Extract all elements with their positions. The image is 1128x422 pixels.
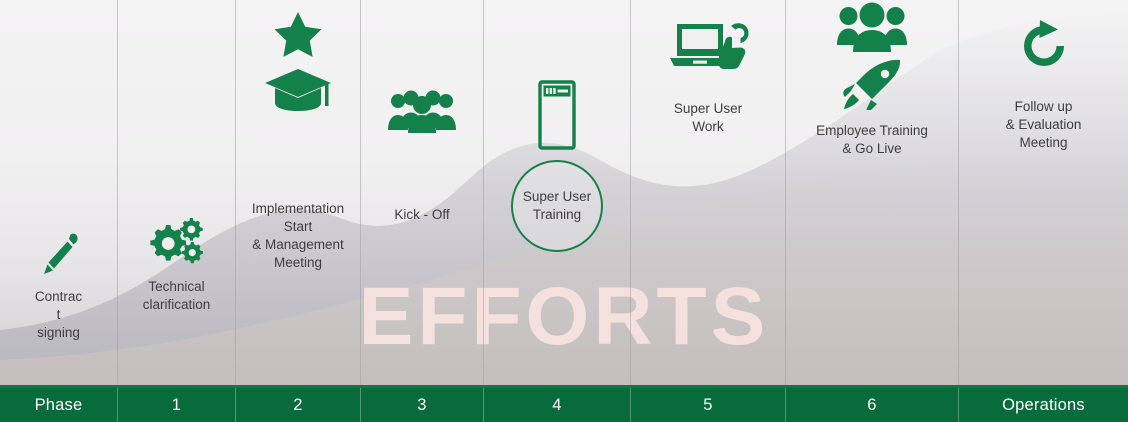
rocket-icon: [840, 58, 904, 110]
phase-caption: Technical clarification: [143, 278, 211, 314]
tablet-icon: [537, 80, 577, 150]
phase-column-contract-signing[interactable]: Contrac t signing: [0, 0, 117, 388]
phase-icons: [837, 0, 907, 110]
phase-cell-5[interactable]: 5: [630, 388, 785, 422]
phase-column-implementation-start[interactable]: Implementation Start & Management Meetin…: [235, 0, 360, 388]
phase-icons: [665, 18, 751, 72]
phase-column-super-user-training[interactable]: Super User Training: [483, 0, 630, 388]
refresh-arrow-icon: [1016, 18, 1072, 74]
implementation-roadmap: EFFORTS Contrac t signing: [0, 0, 1128, 422]
phase-column-kick-off[interactable]: Kick - Off: [360, 0, 483, 388]
phase-cell-3[interactable]: 3: [360, 388, 483, 422]
super-user-training-badge: Super User Training: [511, 160, 603, 252]
phase-cell-1[interactable]: 1: [117, 388, 235, 422]
laptop-click-icon: [665, 18, 751, 72]
people-group-icon: [387, 88, 457, 134]
phase-caption: Contrac t signing: [23, 288, 95, 342]
phase-caption: Super User Training: [523, 188, 591, 223]
phase-icons: [146, 214, 208, 268]
graduation-cap-icon: [263, 66, 333, 112]
phase-caption: Kick - Off: [394, 206, 449, 224]
phase-cell-operations[interactable]: Operations: [958, 388, 1128, 422]
star-icon: [272, 10, 324, 60]
phase-caption: Employee Training & Go Live: [816, 122, 928, 158]
phase-column-follow-up-evaluation[interactable]: Follow up & Evaluation Meeting: [958, 0, 1128, 388]
phase-caption: Implementation Start & Management Meetin…: [252, 200, 344, 272]
phase-icons: [537, 80, 577, 150]
phase-column-technical-clarification[interactable]: Technical clarification: [117, 0, 235, 388]
phase-cell-2[interactable]: 2: [235, 388, 360, 422]
phase-icons: [38, 230, 80, 278]
phase-icons: [387, 88, 457, 134]
phase-column-super-user-work[interactable]: Super User Work: [630, 0, 785, 388]
phase-cell-4[interactable]: 4: [483, 388, 630, 422]
phase-icons: [1016, 18, 1072, 74]
people-solid-icon: [837, 0, 907, 56]
phase-caption: Super User Work: [674, 100, 742, 136]
phase-column-employee-training-go-live[interactable]: Employee Training & Go Live: [785, 0, 958, 388]
phase-cell-phase[interactable]: Phase: [0, 388, 117, 422]
gears-icon: [146, 214, 208, 268]
phase-cell-6[interactable]: 6: [785, 388, 958, 422]
phase-caption: Follow up & Evaluation Meeting: [1006, 98, 1082, 152]
phase-columns: Contrac t signing: [0, 0, 1128, 388]
phase-bar: Phase 1 2 3 4 5 6 Operations: [0, 388, 1128, 422]
phase-icons: [263, 10, 333, 112]
pencil-icon: [38, 230, 80, 278]
